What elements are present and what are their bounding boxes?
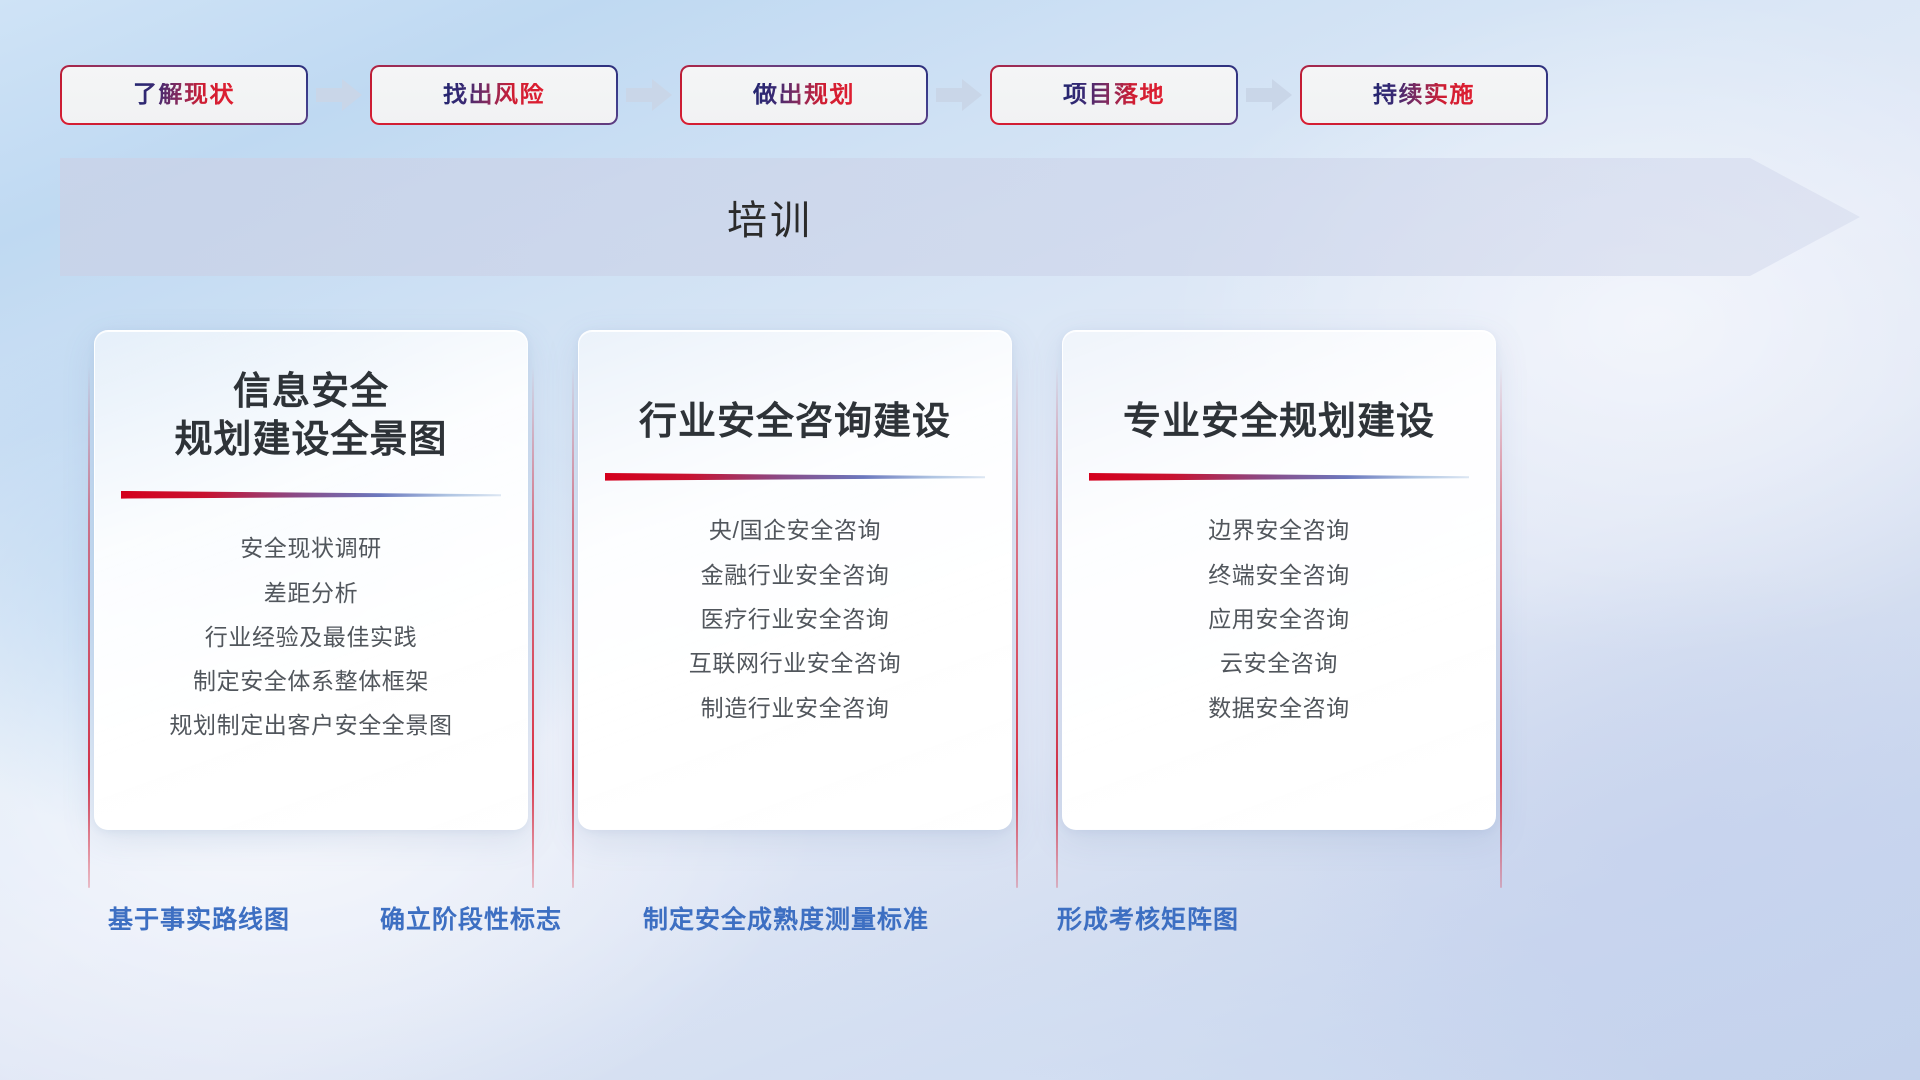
step-chip-5[interactable]: 持续实施 xyxy=(1300,65,1548,125)
list-item: 规划制定出客户安全全景图 xyxy=(121,704,501,748)
step-chip-1[interactable]: 了解现状 xyxy=(60,65,308,125)
gradient-wedge-divider-icon xyxy=(121,487,501,503)
step-chip-4[interactable]: 项目落地 xyxy=(990,65,1238,125)
list-item: 央/国企安全咨询 xyxy=(605,509,985,553)
chevron-right-arrow-icon xyxy=(618,73,680,117)
card-item-list: 央/国企安全咨询 金融行业安全咨询 医疗行业安全咨询 互联网行业安全咨询 制造行… xyxy=(605,491,985,730)
step-chip-label: 找出风险 xyxy=(443,83,545,107)
caption-milestones: 确立阶段性标志 xyxy=(380,890,562,950)
slide-canvas: 了解现状 找出风险 做出规划 项目落地 xyxy=(0,0,1920,1080)
step-chip-label: 了解现状 xyxy=(133,83,235,107)
card-title: 信息安全 规划建设全景图 xyxy=(174,369,447,465)
step-chip-label: 项目落地 xyxy=(1063,83,1165,107)
card-title: 专业安全规划建设 xyxy=(1123,399,1435,447)
card-item-list: 安全现状调研 差距分析 行业经验及最佳实践 制定安全体系整体框架 规划制定出客户… xyxy=(121,509,501,748)
gradient-wedge-divider-icon xyxy=(1089,469,1469,485)
list-item: 云安全咨询 xyxy=(1089,642,1469,686)
card-title: 行业安全咨询建设 xyxy=(639,399,951,447)
caption-assessment-matrix: 形成考核矩阵图 xyxy=(1057,890,1239,950)
list-item: 制造行业安全咨询 xyxy=(605,686,985,730)
list-item: 制定安全体系整体框架 xyxy=(121,660,501,704)
gradient-wedge-divider-icon xyxy=(605,469,985,485)
training-band xyxy=(60,158,1860,276)
card-wrap-1: 信息安全 规划建设全景图 xyxy=(88,330,534,870)
card-professional-security-planning[interactable]: 专业安全规划建设 xyxy=(1062,330,1496,830)
list-item: 安全现状调研 xyxy=(121,527,501,571)
step-chip-2[interactable]: 找出风险 xyxy=(370,65,618,125)
list-item: 医疗行业安全咨询 xyxy=(605,597,985,641)
caption-roadmap: 基于事实路线图 xyxy=(108,890,290,950)
list-item: 互联网行业安全咨询 xyxy=(605,642,985,686)
step-chip-3[interactable]: 做出规划 xyxy=(680,65,928,125)
process-steps-row: 了解现状 找出风险 做出规划 项目落地 xyxy=(60,64,1860,126)
list-item: 应用安全咨询 xyxy=(1089,597,1469,641)
card-item-list: 边界安全咨询 终端安全咨询 应用安全咨询 云安全咨询 数据安全咨询 xyxy=(1089,491,1469,730)
list-item: 边界安全咨询 xyxy=(1089,509,1469,553)
list-item: 行业经验及最佳实践 xyxy=(121,615,501,659)
list-item: 金融行业安全咨询 xyxy=(605,553,985,597)
step-chip-label: 持续实施 xyxy=(1373,83,1475,107)
chevron-right-arrow-icon xyxy=(928,73,990,117)
chevron-right-arrow-icon xyxy=(1238,73,1300,117)
chevron-right-arrow-icon xyxy=(308,73,370,117)
card-wrap-2: 行业安全咨询建设 xyxy=(572,330,1018,870)
cards-row: 信息安全 规划建设全景图 xyxy=(88,330,1848,870)
step-chip-label: 做出规划 xyxy=(753,83,855,107)
captions-row: 基于事实路线图 确立阶段性标志 制定安全成熟度测量标准 形成考核矩阵图 xyxy=(0,890,1920,950)
list-item: 终端安全咨询 xyxy=(1089,553,1469,597)
card-industry-security-consulting[interactable]: 行业安全咨询建设 xyxy=(578,330,1012,830)
card-wrap-3: 专业安全规划建设 xyxy=(1056,330,1502,870)
card-info-security-panorama[interactable]: 信息安全 规划建设全景图 xyxy=(94,330,528,830)
caption-maturity-metric: 制定安全成熟度测量标准 xyxy=(643,890,929,950)
list-item: 数据安全咨询 xyxy=(1089,686,1469,730)
list-item: 差距分析 xyxy=(121,571,501,615)
